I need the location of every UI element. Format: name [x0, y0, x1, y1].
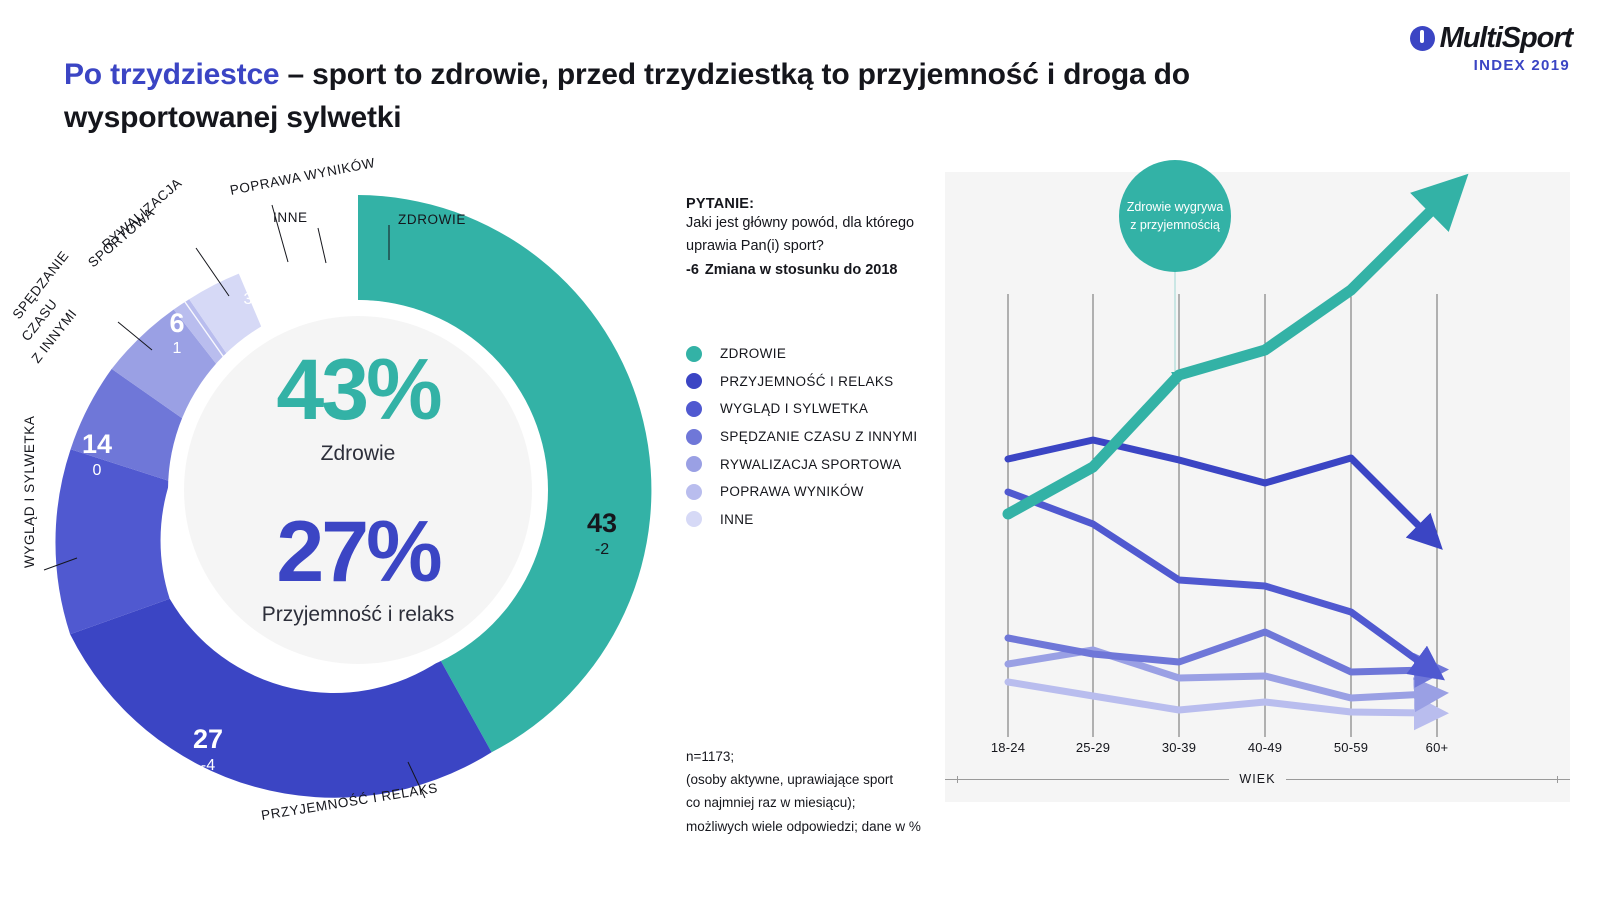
- donut-callout-inne: INNE: [273, 210, 308, 225]
- legend-dot-icon: [686, 373, 702, 389]
- donut-value-wyglad: 14: [82, 429, 112, 459]
- donut-value-przyjemnosc: 27: [193, 724, 223, 754]
- footnote-line-4: możliwych wiele odpowiedzi; dane w %: [686, 815, 966, 838]
- donut-value-zdrowie: 43: [587, 508, 617, 538]
- legend-label: SPĘDZANIE CZASU Z INNYMI: [720, 429, 917, 444]
- legend-item-poprawa[interactable]: POPRAWA WYNIKÓW: [686, 478, 917, 506]
- donut-delta-wyglad: 0: [93, 462, 102, 479]
- donut-delta-rywalizacja: 3: [244, 291, 253, 308]
- footnote-line-3: co najmniej raz w miesiącu);: [686, 791, 966, 814]
- legend-dot-icon: [686, 346, 702, 362]
- infographic-page: Po trzydziestce – sport to zdrowie, prze…: [0, 0, 1600, 900]
- donut-center-values: 43% Zdrowie 27% Przyjemność i relaks: [172, 350, 544, 627]
- x-tick-label-0: 18-24: [991, 740, 1025, 755]
- question-heading: PYTANIE:: [686, 196, 956, 212]
- age-line-chart-panel: Zdrowie wygrywa z przyjemnością 18-24 25…: [945, 172, 1570, 802]
- page-title-accent: Po trzydziestce: [64, 58, 279, 91]
- legend-item-przyjemnosc[interactable]: PRZYJEMNOŚĆ I RELAKS: [686, 368, 917, 396]
- bubble-annotation: Zdrowie wygrywa z przyjemnością: [1119, 160, 1231, 272]
- legend-label: RYWALIZACJA SPORTOWA: [720, 457, 902, 472]
- bubble-line-1: Zdrowie wygrywa: [1127, 198, 1224, 216]
- x-axis-title: WIEK: [1239, 772, 1275, 786]
- donut-delta-zdrowie: -2: [595, 541, 609, 558]
- legend-item-zdrowie[interactable]: ZDROWIE: [686, 340, 917, 368]
- footnote-line-1: n=1173;: [686, 745, 966, 768]
- center-primary-value: 43%: [172, 350, 544, 432]
- footnote-line-2: (osoby aktywne, uprawiające sport: [686, 768, 966, 791]
- footnote-block: n=1173; (osoby aktywne, uprawiające spor…: [686, 745, 966, 838]
- page-title: Po trzydziestce – sport to zdrowie, prze…: [64, 54, 1244, 139]
- line-series-wyglad[interactable]: [1008, 492, 1428, 668]
- x-axis-title-row: WIEK: [945, 772, 1570, 786]
- axis-rule-right: [1286, 779, 1570, 780]
- x-tick-label-2: 30-39: [1162, 740, 1196, 755]
- donut-delta-poprawa: 0: [292, 277, 301, 294]
- legend-label: WYGLĄD I SYLWETKA: [720, 401, 868, 416]
- legend-dot-icon: [686, 401, 702, 417]
- multisport-circle-mark-icon: [1410, 26, 1435, 51]
- legend-dot-icon: [686, 511, 702, 527]
- legend-label: ZDROWIE: [720, 346, 786, 361]
- center-secondary-value: 27%: [172, 512, 544, 594]
- x-tick-label-5: 60+: [1426, 740, 1449, 755]
- legend-item-inne[interactable]: INNE: [686, 506, 917, 534]
- donut-delta-inne: +1: [324, 275, 342, 292]
- delta-legend-label: Zmiana w stosunku do 2018: [705, 262, 898, 278]
- brand-logo: MultiSport INDEX 2019: [1410, 22, 1572, 74]
- donut-callout-poprawa: POPRAWA WYNIKÓW: [229, 155, 377, 198]
- legend-item-wyglad[interactable]: WYGLĄD I SYLWETKA: [686, 395, 917, 423]
- chart-legend: ZDROWIE PRZYJEMNOŚĆ I RELAKS WYGLĄD I SY…: [686, 340, 917, 533]
- legend-dot-icon: [686, 484, 702, 500]
- legend-dot-icon: [686, 456, 702, 472]
- donut-callout-zdrowie: ZDROWIE: [398, 212, 466, 227]
- logo-subtitle: INDEX 2019: [1410, 57, 1570, 74]
- center-primary-label: Zdrowie: [172, 442, 544, 466]
- delta-legend-value: -6: [686, 262, 699, 278]
- center-secondary-label: Przyjemność i relaks: [172, 603, 544, 627]
- line-chart-svg: [945, 172, 1570, 802]
- x-tick-label-3: 40-49: [1248, 740, 1282, 755]
- x-tick-label-1: 25-29: [1076, 740, 1110, 755]
- donut-callout-wyglad: WYGLĄD I SYLWETKA: [22, 416, 37, 568]
- donut-value-rywalizacja: 5: [240, 259, 255, 289]
- donut-delta-przyjemnosc: -4: [201, 757, 215, 774]
- legend-item-rywalizacja[interactable]: RYWALIZACJA SPORTOWA: [686, 450, 917, 478]
- question-line-2: uprawia Pan(i) sport?: [686, 235, 956, 258]
- legend-item-spedzanie[interactable]: SPĘDZANIE CZASU Z INNYMI: [686, 423, 917, 451]
- axis-rule-left: [945, 779, 1229, 780]
- line-series-zdrowie[interactable]: [1008, 197, 1445, 514]
- donut-value-inne: 3: [325, 243, 340, 273]
- legend-label: POPRAWA WYNIKÓW: [720, 484, 864, 499]
- donut-value-poprawa: 1: [288, 245, 303, 275]
- line-series-spedzanie[interactable]: [1008, 632, 1428, 672]
- line-series-przyjemnosc[interactable]: [1008, 440, 1428, 535]
- donut-chart: 43 -2 27 -4 14 0 6 1 5 3 1 0 3 +1: [0, 150, 700, 870]
- question-line-1: Jaki jest główny powód, dla którego: [686, 212, 956, 235]
- delta-legend: -6Zmiana w stosunku do 2018: [686, 262, 956, 278]
- donut-value-spedzanie: 6: [169, 308, 184, 338]
- legend-label: PRZYJEMNOŚĆ I RELAKS: [720, 374, 894, 389]
- question-block: PYTANIE: Jaki jest główny powód, dla któ…: [686, 196, 956, 278]
- donut-callout-rywalizacja-2: SPORTOWA: [85, 205, 157, 270]
- x-tick-label-4: 50-59: [1334, 740, 1368, 755]
- legend-dot-icon: [686, 429, 702, 445]
- legend-label: INNE: [720, 512, 754, 527]
- logo-wordmark: MultiSport: [1440, 22, 1572, 55]
- bubble-line-2: z przyjemnością: [1130, 216, 1220, 234]
